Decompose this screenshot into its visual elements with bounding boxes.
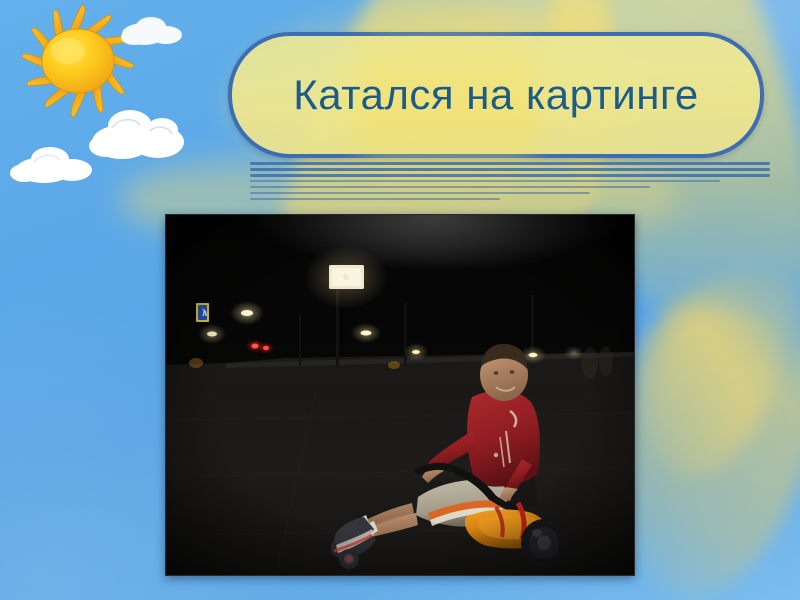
page-title: Катался на картинге [293,71,698,119]
cloud-icon-large [88,98,190,170]
rule-line-7 [250,198,500,200]
rule-line-1 [250,162,770,165]
rule-line-4 [250,180,720,182]
title-plaque: Катался на картинге [228,32,764,158]
karting-photo [165,214,635,576]
speed-rules [250,160,770,202]
presentation-slide: Катался на картинге [0,0,800,600]
cloud-icon-top [118,12,190,52]
rule-line-6 [250,192,590,194]
rule-line-3 [250,174,770,177]
cloud-icon-left [10,140,100,188]
rule-line-5 [250,186,650,188]
rule-line-2 [250,168,770,171]
